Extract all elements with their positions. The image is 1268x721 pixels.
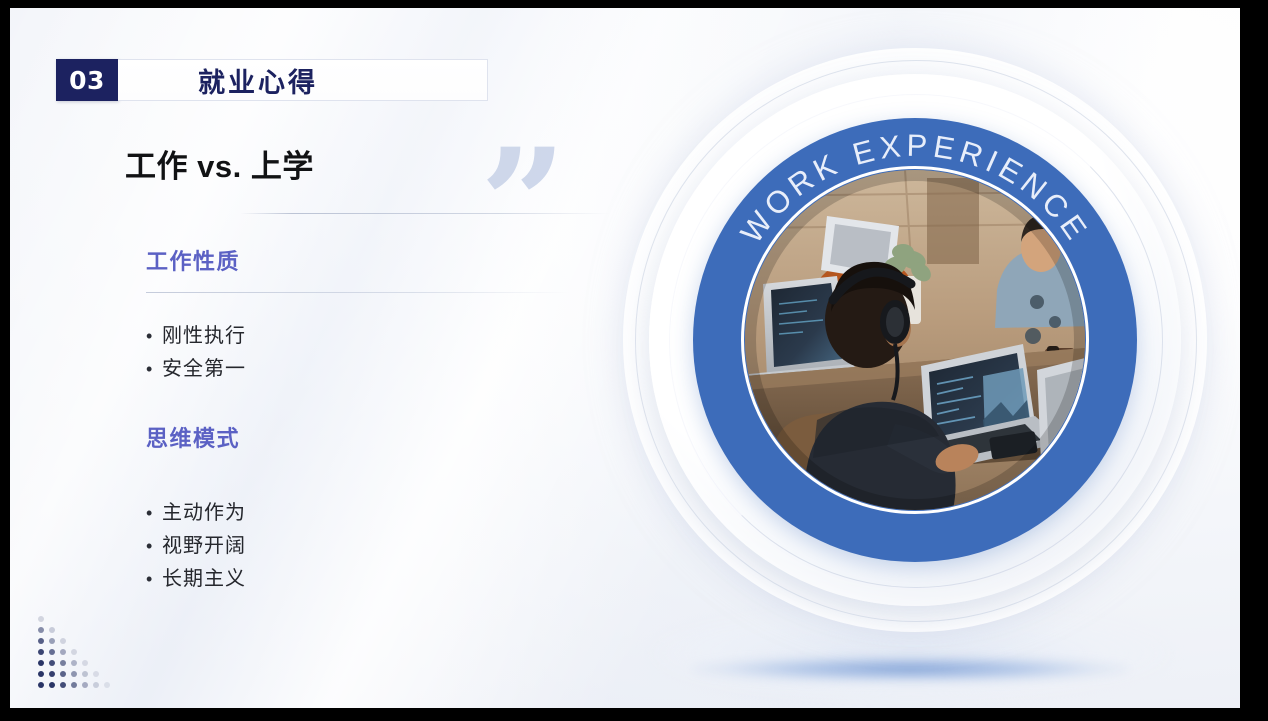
dot-pattern-dot — [49, 649, 55, 655]
dot-pattern-dot — [60, 660, 66, 666]
dot-pattern-dot — [38, 682, 44, 688]
bullet-dot-icon: • — [146, 327, 162, 345]
dot-pattern-dot — [38, 616, 44, 622]
dot-pattern-dot — [93, 671, 99, 677]
dot-pattern-dot — [49, 671, 55, 677]
divider-middle — [146, 292, 571, 293]
dot-pattern-dot — [38, 649, 44, 655]
list-item-label: 长期主义 — [162, 562, 246, 591]
dot-pattern-dot — [49, 682, 55, 688]
quotation-mark-icon: ” — [480, 146, 566, 263]
dot-pattern-row — [38, 664, 115, 675]
dot-pattern-dot — [82, 671, 88, 677]
page-title: 工作 vs. 上学 — [125, 141, 314, 186]
list-item-label: 视野开阔 — [162, 529, 246, 558]
list-item: • 安全第一 — [146, 352, 246, 380]
bullet-dot-icon: • — [146, 570, 162, 588]
bullet-dot-icon: • — [146, 360, 162, 378]
emblem-inner-hairline — [741, 166, 1089, 514]
bullet-list-work-nature: • 刚性执行 • 安全第一 — [146, 319, 246, 385]
dot-pattern-row — [38, 631, 115, 642]
list-item: • 刚性执行 — [146, 319, 246, 347]
slide-root: 03 就业心得 工作 vs. 上学 工作性质 • 刚性执行 • 安全第一 — [0, 0, 1268, 721]
dot-pattern-dot — [104, 682, 110, 688]
work-experience-emblem: WORK EXPERIENCE — [605, 30, 1225, 650]
dot-pattern-dot — [38, 638, 44, 644]
bullet-list-mindset: • 主动作为 • 视野开阔 • 长期主义 — [146, 496, 246, 595]
dot-pattern-dot — [60, 649, 66, 655]
dot-pattern-dot — [60, 682, 66, 688]
dot-pattern-dot — [71, 682, 77, 688]
content-column: 工作 vs. 上学 工作性质 • 刚性执行 • 安全第一 思维模式 • 主动作为 — [10, 8, 630, 708]
dot-pattern-dot — [82, 682, 88, 688]
dot-pattern-dot — [60, 671, 66, 677]
dot-pattern-dot — [71, 660, 77, 666]
dot-pattern-row — [38, 642, 115, 653]
subheading-mindset: 思维模式 — [146, 421, 240, 453]
dot-pattern-dot — [49, 627, 55, 633]
dot-pattern-decoration — [38, 609, 115, 686]
dot-pattern-row — [38, 609, 115, 620]
subheading-work-nature: 工作性质 — [146, 244, 240, 276]
dot-pattern-dot — [60, 638, 66, 644]
dot-pattern-dot — [71, 649, 77, 655]
bullet-dot-icon: • — [146, 537, 162, 555]
dot-pattern-dot — [82, 660, 88, 666]
emblem-drop-shadow — [690, 656, 1130, 682]
bullet-dot-icon: • — [146, 504, 162, 522]
dot-pattern-dot — [71, 671, 77, 677]
list-item: • 主动作为 — [146, 496, 246, 524]
dot-pattern-dot — [49, 638, 55, 644]
dot-pattern-row — [38, 675, 115, 686]
dot-pattern-dot — [49, 660, 55, 666]
dot-pattern-row — [38, 653, 115, 664]
list-item-label: 安全第一 — [162, 352, 246, 381]
list-item: • 视野开阔 — [146, 529, 246, 557]
list-item-label: 主动作为 — [162, 496, 246, 525]
dot-pattern-row — [38, 620, 115, 631]
list-item: • 长期主义 — [146, 562, 246, 590]
list-item-label: 刚性执行 — [162, 319, 246, 348]
dot-pattern-dot — [93, 682, 99, 688]
slide-canvas: 03 就业心得 工作 vs. 上学 工作性质 • 刚性执行 • 安全第一 — [10, 8, 1240, 708]
dot-pattern-dot — [38, 627, 44, 633]
